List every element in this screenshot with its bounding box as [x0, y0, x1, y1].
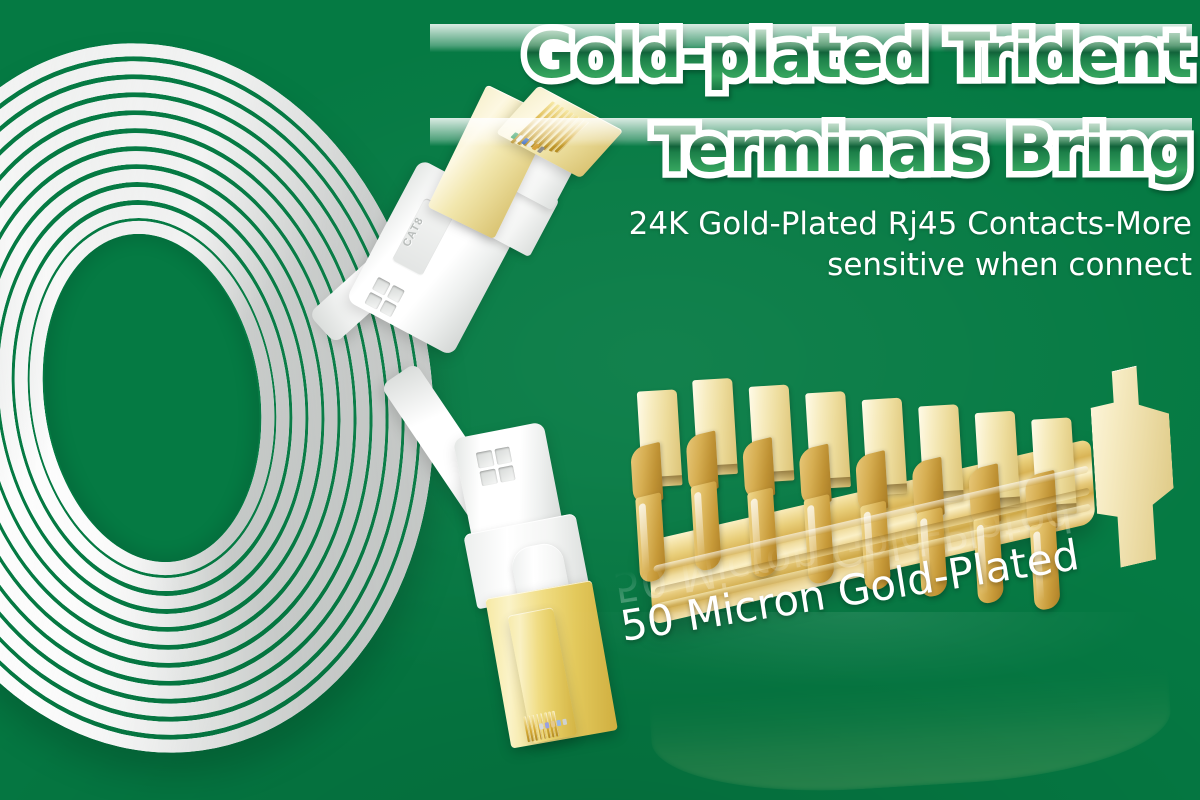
terminal-pin	[627, 389, 690, 578]
headline-line-1: Gold-plated Trident Gold-plated Trident …	[430, 24, 1192, 87]
headline-line-2: Terminals Bring Terminals Bring Terminal…	[430, 118, 1192, 181]
headline-line-1-fill: Gold-plated Trident	[524, 19, 1192, 92]
headline-line-2-fill: Terminals Bring	[654, 113, 1192, 186]
subtitle-line-1: 24K Gold-Plated Rj45 Contacts-More	[430, 204, 1192, 245]
product-marketing-image: CAT8	[0, 0, 1200, 800]
boot-cross-pattern	[476, 446, 516, 486]
subtitle-line-2: sensitive when connect	[430, 245, 1192, 286]
subtitle: 24K Gold-Plated Rj45 Contacts-More sensi…	[430, 204, 1192, 286]
terminal-pin	[682, 378, 745, 567]
